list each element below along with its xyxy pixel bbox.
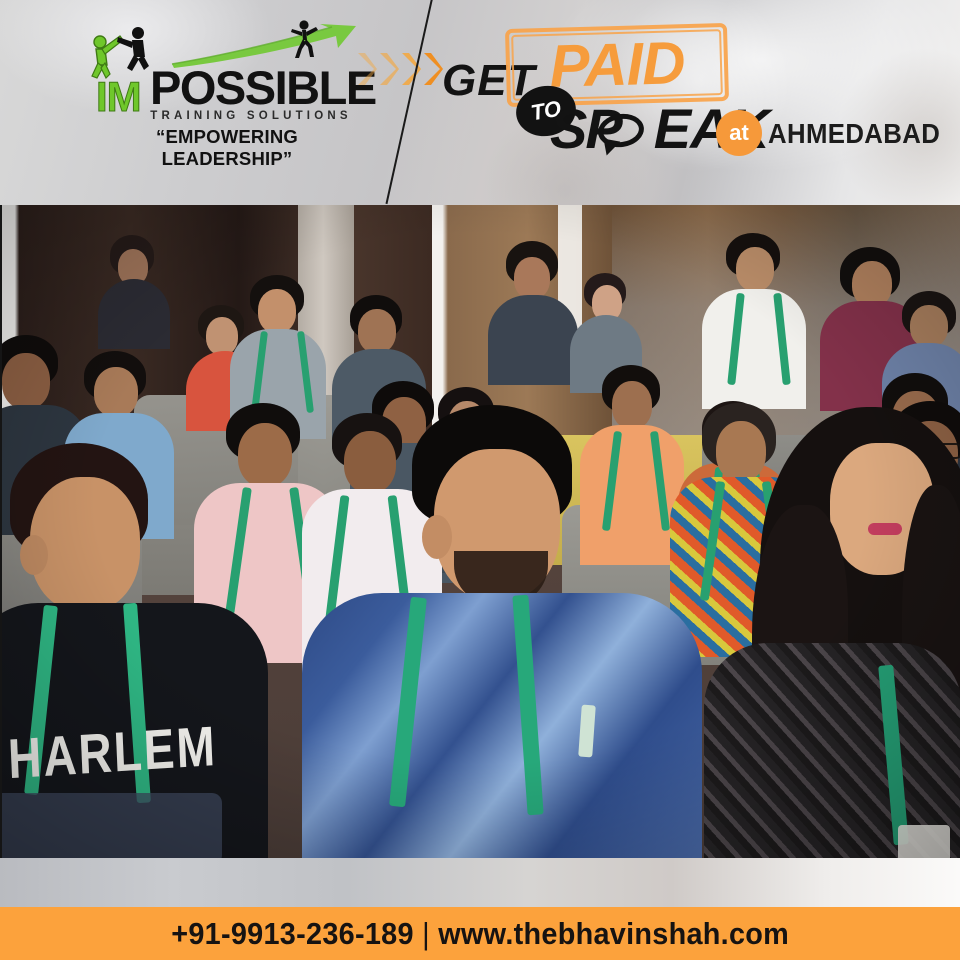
blue-tie-dye-shirt — [302, 593, 702, 858]
headline-group: GET PAID TO SPEAK at AHMEDABAD — [430, 18, 960, 183]
ear — [422, 515, 452, 559]
running-figure-icon — [286, 20, 320, 60]
at-badge: at — [716, 110, 762, 156]
headline-city: AHMEDABAD — [768, 118, 940, 150]
footer-phone[interactable]: +91-9913-236-189 — [171, 916, 414, 951]
logo-subtitle: TRAINING SOLUTIONS — [136, 110, 366, 122]
logo-possible-text: POSSIBLE — [150, 64, 376, 111]
poster-header: IM POSSIBLE TRAINING SOLUTIONS “EMPOWERI… — [0, 0, 960, 205]
tshirt-text: HARLEM — [7, 712, 220, 791]
name-badge — [898, 825, 950, 858]
footer-website[interactable]: www.thebhavinshah.com — [438, 916, 789, 951]
logo-wordmark: IM POSSIBLE — [88, 58, 358, 114]
chevron-right-icon — [378, 52, 400, 86]
impossible-logo[interactable]: IM POSSIBLE TRAINING SOLUTIONS “EMPOWERI… — [88, 22, 358, 144]
chevron-right-icon — [356, 52, 378, 86]
speech-bubble-tail-icon — [601, 139, 621, 158]
footer-separator: | — [414, 916, 439, 951]
tshirt-graphic — [0, 793, 222, 858]
silver-band — [0, 858, 960, 907]
footer-contact-line: +91-9913-236-189|www.thebhavinshah.com — [171, 916, 789, 952]
contact-footer: +91-9913-236-189|www.thebhavinshah.com — [0, 907, 960, 960]
headline-at: at — [716, 110, 762, 156]
diagonal-divider — [385, 0, 433, 204]
logo-im-text: IM — [96, 76, 141, 118]
promo-poster: IM POSSIBLE TRAINING SOLUTIONS “EMPOWERI… — [0, 0, 960, 960]
lips — [868, 523, 902, 535]
seminar-audience-photo: HARLEM — [0, 205, 960, 858]
logo-tagline: “EMPOWERING LEADERSHIP” — [94, 126, 360, 170]
ear — [20, 535, 48, 575]
